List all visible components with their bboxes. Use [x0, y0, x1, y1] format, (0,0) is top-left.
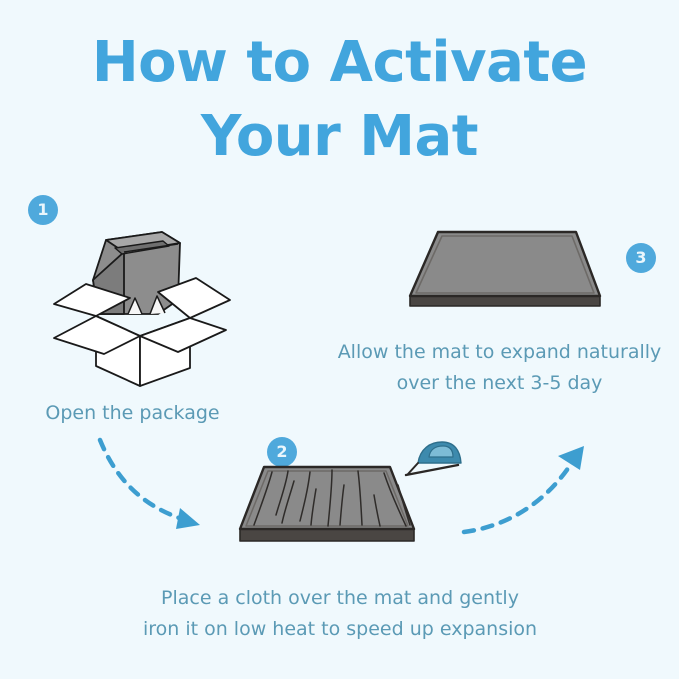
- arrow-right-path: [464, 456, 576, 532]
- arrow-step2-to-step3: [458, 436, 598, 546]
- step-badge-3: 3: [626, 243, 656, 273]
- iron-icon: [396, 437, 466, 492]
- step-2-caption: Place a cloth over the mat and gently ir…: [118, 583, 562, 645]
- iron-svg: [396, 437, 466, 487]
- step-3-caption-line-2: over the next 3-5 day: [320, 368, 679, 399]
- mat-thickness: [240, 529, 414, 541]
- wrinkled-mat-illustration: [232, 455, 422, 565]
- open-box-illustration: [38, 218, 238, 393]
- arrow-left-path: [100, 440, 192, 522]
- title-line-2: Your Mat: [0, 100, 679, 174]
- open-box-svg: [38, 218, 238, 388]
- arrow-right-head: [558, 446, 584, 470]
- arrow-left-svg: [96, 432, 226, 537]
- arrow-step1-to-step2: [96, 432, 226, 542]
- flat-mat-svg: [400, 220, 610, 330]
- page-title: How to Activate Your Mat: [0, 26, 679, 174]
- arrow-right-svg: [458, 436, 598, 541]
- step-1-caption: Open the package: [0, 398, 265, 429]
- wrinkled-mat-svg: [232, 455, 422, 560]
- step-2-caption-line-1: Place a cloth over the mat and gently: [118, 583, 562, 614]
- mat-top-surface: [410, 232, 600, 296]
- step-3-caption: Allow the mat to expand naturally over t…: [320, 337, 679, 399]
- mat-thickness: [410, 296, 600, 306]
- arrow-left-head: [176, 508, 200, 529]
- infographic-canvas: How to Activate Your Mat 1: [0, 0, 679, 679]
- flat-mat-illustration: [400, 220, 610, 335]
- step-2-caption-line-2: iron it on low heat to speed up expansio…: [118, 614, 562, 645]
- title-line-1: How to Activate: [0, 26, 679, 100]
- step-3-caption-line-1: Allow the mat to expand naturally: [320, 337, 679, 368]
